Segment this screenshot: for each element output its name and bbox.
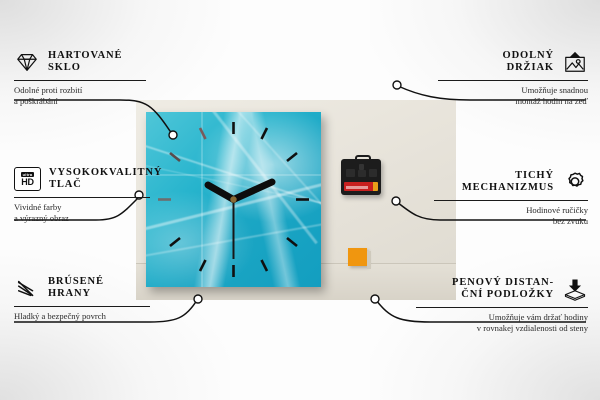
badge-hd-label: HD [21,178,34,187]
feature-ground-edges: BRÚSENÉ HRANY Hladký a bezpečný povrch [14,276,150,322]
feature-durable-hanger: ODOLNÝ DRŽIAK Umožňuje snadnou montáž ho… [438,50,588,108]
feature-description: Umožňuje vám držať hodiny v rovnakej vzd… [416,312,588,335]
feature-title-line2: DRŽIAK [503,62,555,74]
wire-endpoint-marker [371,295,379,303]
gear-icon [562,170,588,194]
feature-title-line2: ČNÍ PODLOŽKY [452,289,554,301]
feature-header: ODOLNÝ DRŽIAK [438,50,588,75]
feature-description: Hodinové ručičky bez zvuku [434,205,588,228]
ground-edges-icon [14,276,40,300]
feature-description: Umožňuje snadnou montáž hodin na zeď [438,85,588,108]
feature-titles: BRÚSENÉ HRANY [48,276,104,301]
feature-title-line2: TLAČ [49,179,162,191]
feature-tempered-glass: HARTOVANÉ SKLO Odolné proti rozbití a po… [14,50,146,108]
diamond-icon [14,50,40,74]
feature-header: TICHÝ MECHANIZMUS [434,170,588,195]
wire-endpoint-marker [392,197,400,205]
feature-divider [14,306,150,307]
feature-foam-spacers: PENOVÝ DISTAN- ČNÍ PODLOŽKY Umožňuje vám… [416,277,588,335]
feature-divider [416,307,588,308]
feature-titles: ODOLNÝ DRŽIAK [503,50,555,75]
feature-title-line2: MECHANIZMUS [462,182,554,194]
feature-title-line1: TICHÝ [462,170,554,182]
feature-title-line1: ODOLNÝ [503,50,555,62]
feature-titles: VYSOKOKVALITNÝ TLAČ [49,167,162,192]
feature-title-line1: PENOVÝ DISTAN- [452,277,554,289]
feature-silent-mechanism: TICHÝ MECHANIZMUS Hodinové ručičky bez z… [434,170,588,228]
ultra-hd-badge-icon: ultra HD [14,167,41,191]
feature-description: Vividné farby a výrazný obraz [14,202,150,225]
feature-title-line1: HARTOVANÉ [48,50,122,62]
feature-title-line1: BRÚSENÉ [48,276,104,288]
feature-divider [434,200,588,201]
wire-endpoint-marker [169,131,177,139]
picture-hanger-icon [562,50,588,74]
feature-header: ultra HD VYSOKOKVALITNÝ TLAČ [14,167,150,192]
feature-titles: PENOVÝ DISTAN- ČNÍ PODLOŽKY [452,277,554,302]
feature-header: BRÚSENÉ HRANY [14,276,150,301]
feature-title-line1: VYSOKOKVALITNÝ [49,167,162,179]
feature-high-quality-print: ultra HD VYSOKOKVALITNÝ TLAČ Vividné far… [14,167,150,225]
feature-header: HARTOVANÉ SKLO [14,50,146,75]
feature-header: PENOVÝ DISTAN- ČNÍ PODLOŽKY [416,277,588,302]
infographic-canvas: HARTOVANÉ SKLO Odolné proti rozbití a po… [0,0,600,400]
feature-description: Hladký a bezpečný povrch [14,311,150,323]
feature-titles: TICHÝ MECHANIZMUS [462,170,554,195]
feature-divider [14,80,146,81]
feature-divider [438,80,588,81]
wire-endpoint-marker [393,81,401,89]
feature-divider [14,197,150,198]
feature-title-line2: HRANY [48,288,104,300]
feature-title-line2: SKLO [48,62,122,74]
feature-description: Odolné proti rozbití a poškrábání [14,85,146,108]
foam-spacer-icon [562,277,588,301]
wire-endpoint-marker [194,295,202,303]
feature-titles: HARTOVANÉ SKLO [48,50,122,75]
